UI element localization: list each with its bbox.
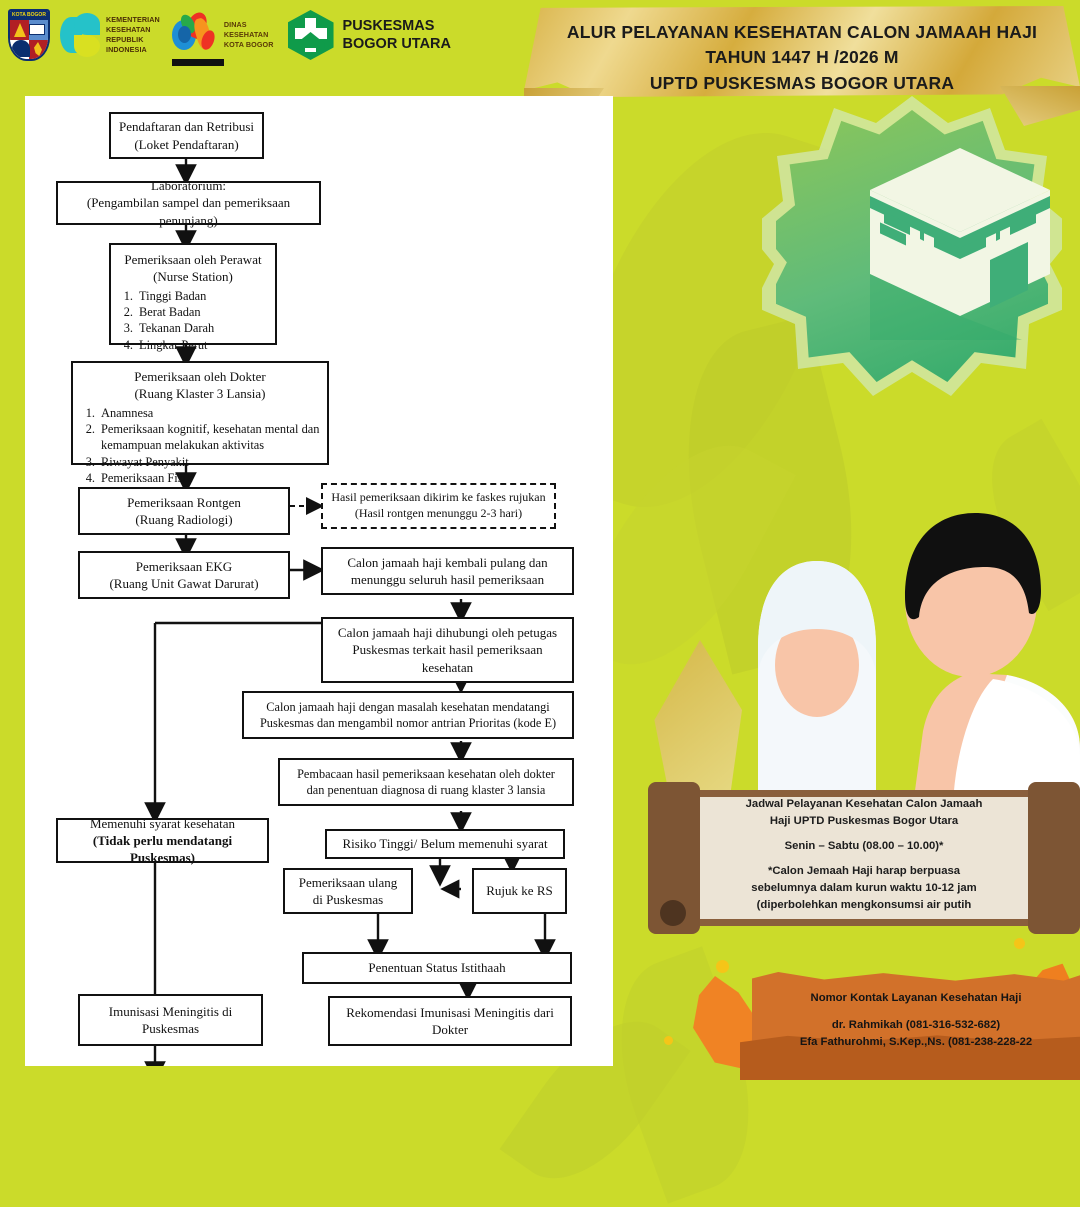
node-line-2: dan penentuan diagnosa di ruang klaster … bbox=[286, 782, 566, 798]
node-line-2: Puskesmas dan mengambil nomor antrian Pr… bbox=[250, 715, 566, 731]
node-line-1: Pemeriksaan EKG bbox=[86, 558, 282, 575]
contact-plank: Nomor Kontak Layanan Kesehatan Haji dr. … bbox=[752, 972, 1080, 1080]
node-line-1: Pemeriksaan oleh Perawat bbox=[117, 251, 269, 268]
scroll-roll-right bbox=[1028, 782, 1080, 934]
dinkes-line-3: KOTA BOGOR bbox=[224, 40, 274, 50]
scroll-roll-left bbox=[648, 782, 700, 934]
schedule-line-2: Haji UPTD Puskesmas Bogor Utara bbox=[708, 813, 1020, 830]
contact-title: Nomor Kontak Layanan Kesehatan Haji bbox=[764, 990, 1068, 1008]
flow-node-pemeriksaan-perawat: Pemeriksaan oleh Perawat (Nurse Station)… bbox=[109, 243, 277, 345]
node-line-1: Penentuan Status Istithaah bbox=[310, 959, 564, 976]
node-list: 1.Anamnesa 2.Pemeriksaan kognitif, keseh… bbox=[79, 405, 321, 487]
flow-node-memenuhi-syarat: Memenuhi syarat kesehatan (Tidak perlu m… bbox=[56, 818, 269, 863]
puskesmas-line-2: BOGOR UTARA bbox=[343, 35, 451, 53]
schedule-line-5: sebelumnya dalam kurun waktu 10-12 jam bbox=[708, 880, 1020, 897]
schedule-line-4: *Calon Jemaah Haji harap berpuasa bbox=[708, 863, 1020, 880]
schedule-line-1: Jadwal Pelayanan Kesehatan Calon Jamaah bbox=[708, 796, 1020, 813]
dinkes-mark-icon bbox=[172, 12, 218, 58]
flow-node-rujuk-ke-rs: Rujuk ke RS bbox=[472, 868, 567, 914]
logo-puskesmas: PUSKESMAS BOGOR UTARA bbox=[274, 10, 451, 60]
node-line-2: (Loket Pendaftaran) bbox=[117, 136, 256, 153]
flow-node-pendaftaran: Pendaftaran dan Retribusi (Loket Pendaft… bbox=[109, 112, 264, 159]
puskesmas-hex-cross-icon bbox=[288, 10, 334, 60]
node-line-2: (Nurse Station) bbox=[117, 268, 269, 285]
puskesmas-logo-text: PUSKESMAS BOGOR UTARA bbox=[343, 17, 451, 53]
puskesmas-line-1: PUSKESMAS bbox=[343, 17, 451, 35]
flow-node-kembali-pulang: Calon jamaah haji kembali pulang dan men… bbox=[321, 547, 574, 595]
list-item: 1.Anamnesa bbox=[79, 405, 321, 421]
list-item: 1.Tinggi Badan bbox=[117, 288, 269, 304]
kemenkes-mark-icon bbox=[60, 13, 100, 57]
node-line-1: Laboratorium: bbox=[64, 177, 313, 194]
list-item: 4.Pemeriksaan Fisik bbox=[79, 470, 321, 486]
node-line-1: Pemeriksaan ulang bbox=[291, 874, 405, 891]
page-title: ALUR PELAYANAN KESEHATAN CALON JAMAAH HA… bbox=[524, 20, 1080, 96]
schedule-line-6: (diperbolehkan mengkonsumsi air putih bbox=[708, 897, 1020, 914]
contact-person-1: dr. Rahmikah (081-316-532-682) bbox=[764, 1017, 1068, 1035]
node-line-1: Pemeriksaan Rontgen bbox=[86, 494, 282, 511]
kemenkes-line-1: KEMENTERIAN bbox=[106, 15, 160, 25]
flow-node-rontgen: Pemeriksaan Rontgen (Ruang Radiologi) bbox=[78, 487, 290, 535]
node-line-2: menunggu seluruh hasil pemeriksaan bbox=[329, 571, 566, 588]
title-line-3: UPTD PUSKESMAS BOGOR UTARA bbox=[524, 71, 1080, 96]
contact-person-2: Efa Fathurohmi, S.Kep.,Ns. (081-238-228-… bbox=[764, 1034, 1068, 1052]
logo-kota-bogor: KOTA BOGOR bbox=[8, 9, 50, 61]
dot-decoration bbox=[1014, 938, 1025, 949]
list-item: 4.Lingkar Perut bbox=[117, 337, 269, 353]
flow-node-pemeriksaan-ulang: Pemeriksaan ulang di Puskesmas bbox=[283, 868, 413, 914]
list-item: 2.Pemeriksaan kognitif, kesehatan mental… bbox=[79, 421, 321, 454]
flow-node-imunisasi-meningitis: Imunisasi Meningitis di Puskesmas bbox=[78, 994, 263, 1046]
node-line-2: (Ruang Klaster 3 Lansia) bbox=[79, 385, 321, 402]
flow-node-masalah-kesehatan: Calon jamaah haji dengan masalah kesehat… bbox=[242, 691, 574, 739]
node-line-2: Puskesmas bbox=[86, 1020, 255, 1037]
node-line-1: Risiko Tinggi/ Belum memenuhi syarat bbox=[333, 835, 557, 852]
node-line-1: Imunisasi Meningitis di bbox=[86, 1003, 255, 1020]
node-line-2: (Pengambilan sampel dan pemeriksaan penu… bbox=[64, 194, 313, 229]
contact-text: Nomor Kontak Layanan Kesehatan Haji dr. … bbox=[764, 990, 1068, 1052]
flow-node-pembacaan-hasil: Pembacaan hasil pemeriksaan kesehatan ol… bbox=[278, 758, 574, 806]
scroll-knob-icon bbox=[660, 900, 686, 926]
dot-decoration bbox=[664, 1036, 673, 1045]
flow-node-status-istithaah: Penentuan Status Istithaah bbox=[302, 952, 572, 984]
flow-node-hasil-dikirim-faskes: Hasil pemeriksaan dikirim ke faskes ruju… bbox=[321, 483, 556, 529]
node-line-1: Hasil pemeriksaan dikirim ke faskes ruju… bbox=[329, 490, 548, 506]
flow-node-dihubungi-petugas: Calon jamaah haji dihubungi oleh petugas… bbox=[321, 617, 574, 683]
node-line-2: (Tidak perlu mendatangi Puskesmas) bbox=[64, 832, 261, 867]
flow-node-laboratorium: Laboratorium: (Pengambilan sampel dan pe… bbox=[56, 181, 321, 225]
title-line-1: ALUR PELAYANAN KESEHATAN CALON JAMAAH HA… bbox=[524, 20, 1080, 45]
schedule-text: Jadwal Pelayanan Kesehatan Calon Jamaah … bbox=[708, 796, 1020, 920]
logo-kemenkes: KEMENTERIAN KESEHATAN REPUBLIK INDONESIA bbox=[50, 13, 160, 57]
node-line-1: Pendaftaran dan Retribusi bbox=[117, 118, 256, 135]
kemenkes-line-2: KESEHATAN bbox=[106, 25, 160, 35]
list-item: 3.Tekanan Darah bbox=[117, 320, 269, 336]
flowchart-card: Pendaftaran dan Retribusi (Loket Pendaft… bbox=[25, 96, 613, 1066]
city-crest-label: KOTA BOGOR bbox=[10, 11, 48, 20]
node-line-2: (Ruang Radiologi) bbox=[86, 511, 282, 528]
title-line-2: TAHUN 1447 H /2026 M bbox=[524, 45, 1080, 70]
node-line-1: Pembacaan hasil pemeriksaan kesehatan ol… bbox=[286, 766, 566, 782]
list-item: 3.Riwayat Penyakit bbox=[79, 454, 321, 470]
schedule-scroll: Jadwal Pelayanan Kesehatan Calon Jamaah … bbox=[648, 782, 1080, 934]
city-crest-icon: KOTA BOGOR bbox=[8, 9, 50, 61]
node-line-1: Calon jamaah haji dihubungi oleh petugas bbox=[329, 624, 566, 641]
node-line-2: (Hasil rontgen menunggu 2-3 hari) bbox=[329, 506, 548, 522]
dinkes-logo-text: DINAS KESEHATAN KOTA BOGOR bbox=[224, 20, 274, 51]
dinkes-line-1: DINAS bbox=[224, 20, 274, 30]
flow-node-risiko-tinggi: Risiko Tinggi/ Belum memenuhi syarat bbox=[325, 829, 565, 859]
flow-node-pemeriksaan-dokter: Pemeriksaan oleh Dokter (Ruang Klaster 3… bbox=[71, 361, 329, 465]
flowchart: Pendaftaran dan Retribusi (Loket Pendaft… bbox=[25, 96, 613, 1066]
node-line-1: Rujuk ke RS bbox=[480, 882, 559, 899]
node-line-1: Pemeriksaan oleh Dokter bbox=[79, 368, 321, 385]
kemenkes-line-4: INDONESIA bbox=[106, 45, 160, 55]
node-line-2: di Puskesmas bbox=[291, 891, 405, 908]
flow-node-rekomendasi-imunisasi: Rekomendasi Imunisasi Meningitis dari Do… bbox=[328, 996, 572, 1046]
node-line-1: Rekomendasi Imunisasi Meningitis dari bbox=[336, 1004, 564, 1021]
node-line-1: Calon jamaah haji dengan masalah kesehat… bbox=[250, 699, 566, 715]
node-list: 1.Tinggi Badan 2.Berat Badan 3.Tekanan D… bbox=[117, 288, 269, 354]
list-item: 2.Berat Badan bbox=[117, 304, 269, 320]
flow-node-ekg: Pemeriksaan EKG (Ruang Unit Gawat Darura… bbox=[78, 551, 290, 599]
schedule-line-3: Senin – Sabtu (08.00 – 10.00)* bbox=[708, 838, 1020, 855]
logo-dinkes-kota-bogor: DINAS KESEHATAN KOTA BOGOR bbox=[160, 12, 274, 58]
node-line-1: Calon jamaah haji kembali pulang dan bbox=[329, 554, 566, 571]
dot-decoration bbox=[716, 960, 729, 973]
dinkes-line-2: KESEHATAN bbox=[224, 30, 274, 40]
node-line-3: kesehatan bbox=[329, 659, 566, 676]
node-line-2: Puskesmas terkait hasil pemeriksaan bbox=[329, 641, 566, 658]
kaaba-icon bbox=[862, 140, 1058, 340]
logo-bar: KOTA BOGOR KEMENTERIAN KESEHATAN REPUBLI… bbox=[8, 6, 451, 64]
node-line-1: Memenuhi syarat kesehatan bbox=[64, 815, 261, 832]
node-line-2: Dokter bbox=[336, 1021, 564, 1038]
kemenkes-line-3: REPUBLIK bbox=[106, 35, 160, 45]
kemenkes-logo-text: KEMENTERIAN KESEHATAN REPUBLIK INDONESIA bbox=[106, 15, 160, 56]
node-line-2: (Ruang Unit Gawat Darurat) bbox=[86, 575, 282, 592]
